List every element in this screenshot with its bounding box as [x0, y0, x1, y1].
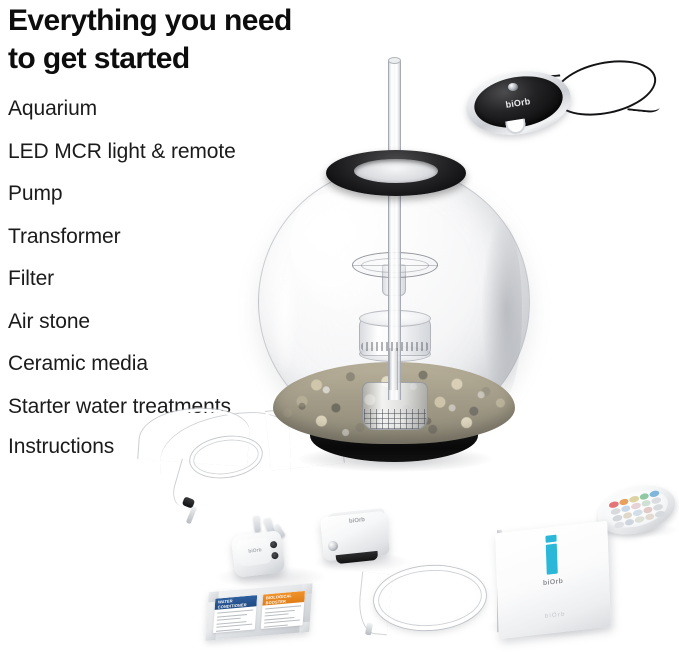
starter-water-treatments: WATER CONDITIONER BIOLOGICAL BOOSTER [206, 583, 313, 641]
transformer-port [270, 541, 278, 549]
air-stone [186, 506, 197, 525]
transformer-port [271, 552, 279, 560]
airline-tubing-lead [357, 572, 393, 635]
glass-highlight-edge [272, 246, 298, 374]
product-contents-image: Everything you need to get started Aquar… [0, 0, 679, 652]
airline-tubing-tip [365, 623, 373, 636]
led-cable-end [627, 94, 660, 113]
plug-pin [253, 516, 261, 533]
instruction-booklet: biOrb biOrb [495, 521, 611, 639]
product-photo: biOrb [0, 0, 679, 652]
lid-aperture [354, 159, 438, 183]
led-screw-icon [508, 83, 518, 91]
booklet-logo-dot-icon [545, 535, 556, 543]
booklet-logo-i-icon [546, 544, 558, 575]
ceramic-media-band [361, 342, 429, 351]
remote-button [614, 521, 625, 529]
booklet-footer: biOrb [524, 609, 586, 622]
globe-aquarium [258, 166, 530, 466]
booklet-brand: biOrb [497, 573, 609, 593]
riser-tube-cap [388, 57, 401, 64]
sachet-body-text [261, 602, 304, 627]
pump-riser-stem [389, 348, 398, 390]
pump-intake-grille [364, 409, 426, 429]
remote-button [655, 510, 666, 518]
sachet-body-text [213, 606, 256, 631]
aquarium-lid-ring [326, 150, 466, 196]
water-treatment-sachet: BIOLOGICAL BOOSTER [261, 591, 305, 629]
water-treatment-sachet: WATER CONDITIONER [213, 595, 257, 633]
remote-button-grid [608, 490, 665, 530]
led-mcr-light: biOrb [466, 68, 576, 140]
